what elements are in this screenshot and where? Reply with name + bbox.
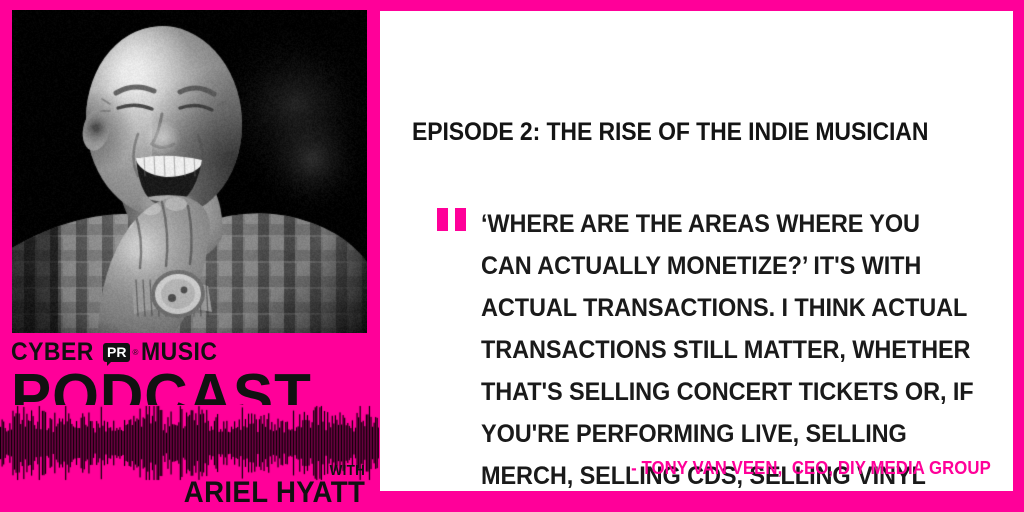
left-brand-panel: CYBER PR ® MUSIC PODCAST WITH ARIEL HYAT… bbox=[0, 0, 379, 512]
episode-content-card: EPISODE 2: THE RISE OF THE INDIE MUSICIA… bbox=[380, 11, 1013, 491]
host-credit: WITH ARIEL HYATT bbox=[168, 464, 365, 508]
quote-attribution: - TONY VAN VEEN, CEO, DIY MEDIA GROUP bbox=[631, 458, 991, 478]
host-name: ARIEL HYATT bbox=[184, 478, 365, 508]
registered-trademark-icon: ® bbox=[132, 348, 138, 357]
quote-bar-left bbox=[437, 208, 448, 231]
episode-quote: ‘WHERE ARE THE AREAS WHERE YOU CAN ACTUA… bbox=[481, 203, 975, 491]
podcast-episode-graphic: CYBER PR ® MUSIC PODCAST WITH ARIEL HYAT… bbox=[0, 0, 1024, 512]
pr-badge-icon: PR bbox=[103, 343, 130, 362]
brand-cyber-text: CYBER bbox=[11, 340, 94, 364]
quote-bar-right bbox=[455, 208, 466, 231]
guest-photo bbox=[12, 10, 367, 333]
brand-top-line: CYBER PR ® MUSIC bbox=[11, 340, 371, 364]
quotation-mark-icon bbox=[437, 208, 466, 231]
guest-photo-canvas bbox=[12, 10, 367, 333]
episode-title: EPISODE 2: THE RISE OF THE INDIE MUSICIA… bbox=[412, 118, 928, 146]
brand-music-text: MUSIC bbox=[141, 340, 217, 364]
